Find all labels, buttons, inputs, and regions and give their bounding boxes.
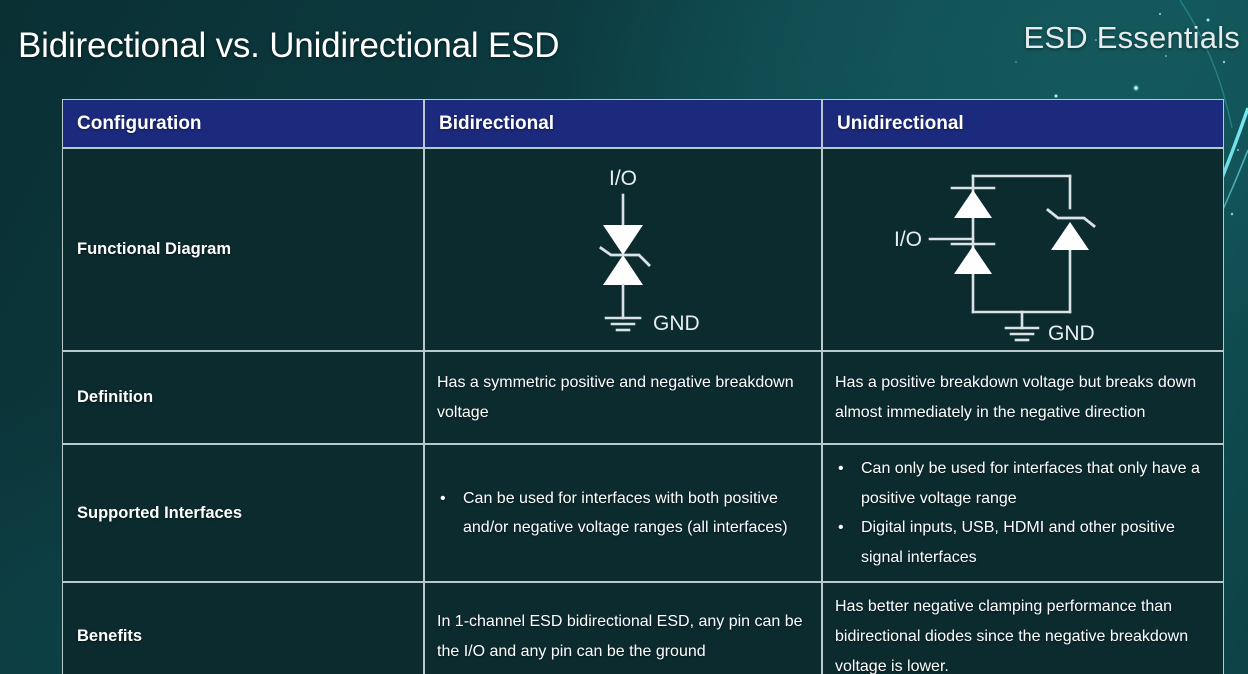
table-row-definition: Definition Has a symmetric positive and … [62, 351, 1224, 444]
bidirectional-bullet-list: • Can be used for interfaces with both p… [437, 484, 811, 543]
table-row-benefits: Benefits In 1-channel ESD bidirectional … [62, 582, 1224, 674]
list-item: • Can be used for interfaces with both p… [437, 484, 811, 543]
slide-header: Bidirectional vs. Unidirectional ESD ESD… [0, 0, 1248, 90]
unidirectional-bullet-list: • Can only be used for interfaces that o… [835, 454, 1213, 572]
unidirectional-gnd-label: GND [1048, 322, 1095, 345]
bidirectional-io-label: I/O [609, 167, 637, 190]
definition-unidirectional-cell: Has a positive breakdown voltage but bre… [822, 351, 1224, 444]
bidirectional-tvs-diode-icon: I/O GND [503, 155, 743, 345]
unidirectional-esd-circuit-icon: I/O GND [878, 152, 1168, 347]
page-title: Bidirectional vs. Unidirectional ESD [18, 26, 559, 66]
interfaces-bidirectional-cell: • Can be used for interfaces with both p… [424, 444, 822, 582]
list-item: • Digital inputs, USB, HDMI and other po… [835, 513, 1213, 572]
column-header-configuration: Configuration [62, 99, 424, 148]
table-header-row: Configuration Bidirectional Unidirection… [62, 99, 1224, 148]
bullet-icon: • [838, 513, 844, 543]
unidirectional-diagram-cell: I/O GND [822, 148, 1224, 351]
bidirectional-diagram-cell: I/O GND [424, 148, 822, 351]
unidirectional-io-label: I/O [894, 228, 922, 251]
row-label-functional-diagram: Functional Diagram [62, 148, 424, 351]
list-item-label: Digital inputs, USB, HDMI and other posi… [861, 519, 1175, 566]
row-label-definition: Definition [62, 351, 424, 444]
row-label-supported-interfaces: Supported Interfaces [62, 444, 424, 582]
list-item-label: Can only be used for interfaces that onl… [861, 460, 1200, 507]
row-label-benefits: Benefits [62, 582, 424, 674]
column-header-unidirectional: Unidirectional [822, 99, 1224, 148]
comparison-table: Configuration Bidirectional Unidirection… [62, 99, 1224, 674]
deck-label: ESD Essentials [1024, 20, 1240, 56]
benefits-bidirectional-cell: In 1-channel ESD bidirectional ESD, any … [424, 582, 822, 674]
bullet-icon: • [838, 454, 844, 484]
bidirectional-gnd-label: GND [653, 312, 700, 335]
benefits-unidirectional-cell: Has better negative clamping performance… [822, 582, 1224, 674]
table-row-functional-diagram: Functional Diagram [62, 148, 1224, 351]
list-item: • Can only be used for interfaces that o… [835, 454, 1213, 513]
bullet-icon: • [440, 484, 446, 514]
definition-bidirectional-cell: Has a symmetric positive and negative br… [424, 351, 822, 444]
column-header-bidirectional: Bidirectional [424, 99, 822, 148]
list-item-label: Can be used for interfaces with both pos… [463, 490, 788, 537]
table-row-supported-interfaces: Supported Interfaces • Can be used for i… [62, 444, 1224, 582]
interfaces-unidirectional-cell: • Can only be used for interfaces that o… [822, 444, 1224, 582]
